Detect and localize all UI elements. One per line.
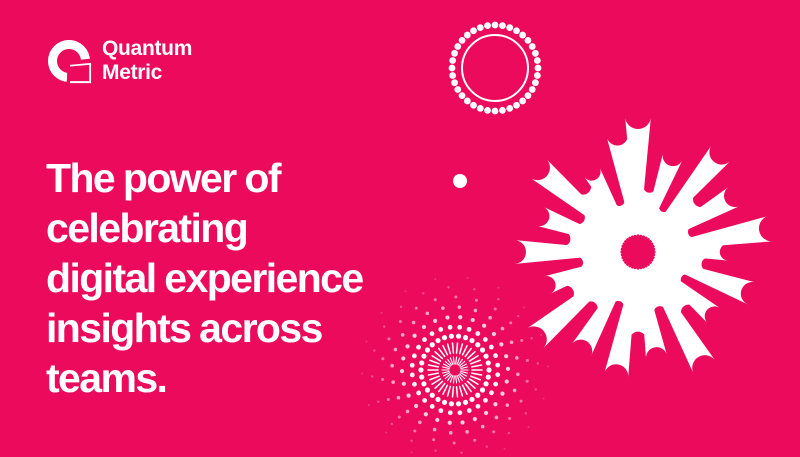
content-layer: Quantum Metric The power of celebrating … — [0, 0, 800, 457]
headline-line-3: digital experience — [46, 253, 476, 303]
logo-wordmark: Quantum Metric — [102, 37, 192, 84]
promo-banner: Quantum Metric The power of celebrating … — [0, 0, 800, 457]
headline: The power of celebrating digital experie… — [46, 153, 476, 403]
headline-line-4: insights across — [46, 303, 476, 353]
quantum-metric-logo[interactable]: Quantum Metric — [45, 37, 192, 85]
headline-line-2: celebrating — [46, 203, 476, 253]
quantum-q-mark-icon — [45, 37, 93, 85]
headline-line-1: The power of — [46, 153, 476, 203]
logo-word-line-1: Quantum — [102, 37, 192, 61]
headline-line-5: teams. — [46, 353, 476, 403]
logo-word-line-2: Metric — [102, 61, 192, 85]
